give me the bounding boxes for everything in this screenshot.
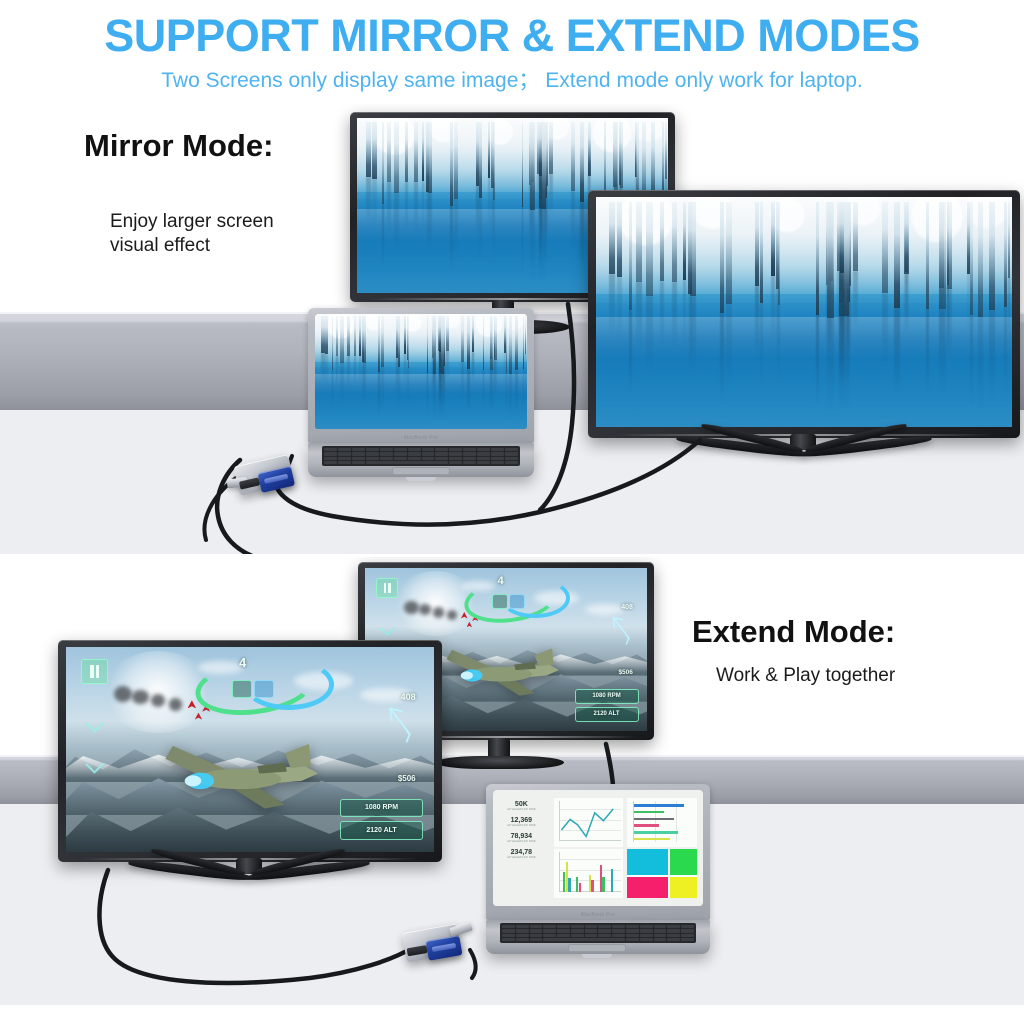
kpi-value: 50K xyxy=(499,801,543,808)
laptop-mirror: MacBook Pro xyxy=(308,308,534,484)
mirror-mode-panel: MacBook Pro xyxy=(0,104,1024,556)
treemap-chart xyxy=(627,849,696,897)
tv-back-foot xyxy=(436,756,564,769)
pause-icon[interactable] xyxy=(376,578,398,598)
laptop-brand-label: MacBook Pro xyxy=(486,912,710,918)
kpi-label: AD VALUE/CLICK RATE xyxy=(499,856,543,859)
tv-bezel xyxy=(588,190,1020,438)
kpi-column: 50K AD VALUE/CLICK RATE 12,369 AD VALUE/… xyxy=(493,790,548,906)
range-value: 408 xyxy=(621,604,633,611)
horizontal-bar-chart xyxy=(627,798,696,846)
tv-screen: 4 408 $506 1080 RPM 2120 ALT xyxy=(66,647,434,852)
laptop-keyboard[interactable] xyxy=(500,923,696,943)
kpi-value: 78,934 xyxy=(499,833,543,840)
laptop-lid: 50K AD VALUE/CLICK RATE 12,369 AD VALUE/… xyxy=(486,784,710,920)
mirror-mode-title: Mirror Mode: xyxy=(84,128,273,164)
mirror-mode-subtitle: Enjoy larger screen visual effect xyxy=(110,210,274,259)
extend-mode-subtitle: Work & Play together xyxy=(716,664,895,688)
laptop-keyboard[interactable] xyxy=(322,446,520,466)
extend-mode-panel: 4 408 $506 1080 RPM 2120 ALT xyxy=(0,556,1024,1024)
header: SUPPORT MIRROR & EXTEND MODES Two Screen… xyxy=(0,0,1024,104)
direction-arrow-icon xyxy=(379,704,419,749)
laptop-trackpad[interactable] xyxy=(392,467,450,475)
pause-icon[interactable] xyxy=(81,659,109,684)
trend-line-chart xyxy=(554,798,623,846)
kpi-label: AD VALUE/CLICK RATE xyxy=(499,824,543,827)
treemap-cell xyxy=(670,877,696,898)
altitude-readout: 2120 ALT xyxy=(575,707,639,722)
boost-icon xyxy=(254,680,274,698)
kpi-item: 50K AD VALUE/CLICK RATE xyxy=(499,801,543,811)
extend-bottom-margin xyxy=(0,1005,1024,1024)
mirror-sub-line-2: visual effect xyxy=(110,234,274,258)
laptop-base xyxy=(308,443,534,477)
chart-grid xyxy=(548,790,703,906)
kpi-item: 78,934 AD VALUE/CLICK RATE xyxy=(499,833,543,843)
boost-icon xyxy=(509,594,525,609)
kpi-item: 234,78 AD VALUE/CLICK RATE xyxy=(499,849,543,859)
infographic-canvas: SUPPORT MIRROR & EXTEND MODES Two Screen… xyxy=(0,0,1024,1024)
range-value: 408 xyxy=(401,692,416,702)
laptop-front-notch xyxy=(582,954,612,958)
shield-icon xyxy=(492,594,508,609)
page-title: SUPPORT MIRROR & EXTEND MODES xyxy=(0,10,1024,62)
cash-value: $506 xyxy=(398,774,416,783)
treemap-cell xyxy=(627,877,668,898)
laptop-lid: MacBook Pro xyxy=(308,308,534,443)
treemap-cell xyxy=(627,849,668,875)
forest-image xyxy=(596,197,1012,427)
tv-right-large xyxy=(588,190,1020,438)
direction-arrow-icon xyxy=(605,614,636,650)
laptop-screen xyxy=(315,314,527,429)
laptop-front-notch xyxy=(406,477,436,481)
laptop-brand-label: MacBook Pro xyxy=(308,435,534,441)
game-scene: 4 408 $506 1080 RPM 2120 ALT xyxy=(66,647,434,852)
rpm-readout: 1080 RPM xyxy=(575,689,639,704)
altitude-readout: 2120 ALT xyxy=(340,821,423,839)
jet-aircraft xyxy=(147,725,331,828)
kpi-value: 234,78 xyxy=(499,849,543,856)
grouped-column-chart xyxy=(554,849,623,897)
cash-value: $506 xyxy=(618,669,632,676)
laptop-base xyxy=(486,920,710,954)
rpm-readout: 1080 RPM xyxy=(340,799,423,817)
laptop-extend: 50K AD VALUE/CLICK RATE 12,369 AD VALUE/… xyxy=(486,784,710,962)
kpi-label: AD VALUE/CLICK RATE xyxy=(499,808,543,811)
kpi-item: 12,369 AD VALUE/CLICK RATE xyxy=(499,817,543,827)
tv-screen xyxy=(596,197,1012,427)
treemap-cell xyxy=(670,849,696,875)
laptop-screen: 50K AD VALUE/CLICK RATE 12,369 AD VALUE/… xyxy=(493,790,703,906)
tv-front-left: 4 408 $506 1080 RPM 2120 ALT xyxy=(58,640,442,862)
forest-image xyxy=(315,314,527,429)
page-subtitle: Two Screens only display same image； Ext… xyxy=(0,64,1024,94)
kpi-label: AD VALUE/CLICK RATE xyxy=(499,840,543,843)
analytics-dashboard: 50K AD VALUE/CLICK RATE 12,369 AD VALUE/… xyxy=(493,790,703,906)
panel-divider xyxy=(0,554,1024,557)
shield-icon xyxy=(232,680,252,698)
jet-aircraft xyxy=(433,633,568,711)
kpi-value: 12,369 xyxy=(499,817,543,824)
laptop-trackpad[interactable] xyxy=(568,944,626,952)
tv-bezel: 4 408 $506 1080 RPM 2120 ALT xyxy=(58,640,442,862)
extend-mode-title: Extend Mode: xyxy=(692,614,895,650)
mirror-sub-line-1: Enjoy larger screen xyxy=(110,210,274,234)
